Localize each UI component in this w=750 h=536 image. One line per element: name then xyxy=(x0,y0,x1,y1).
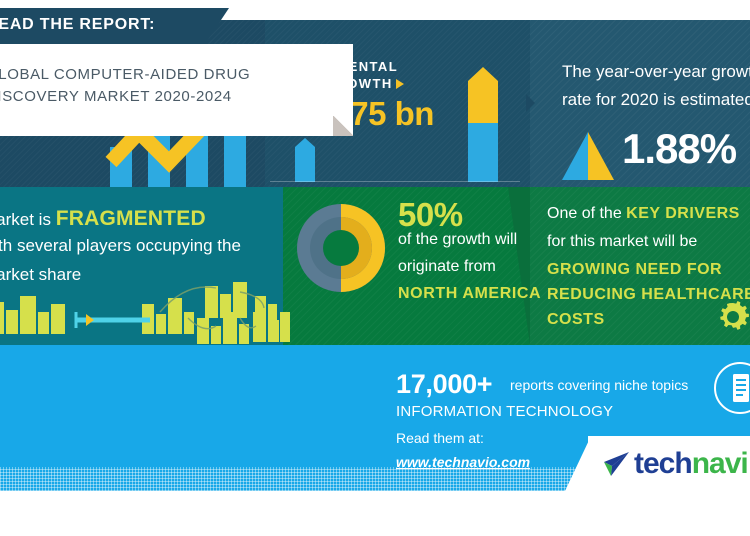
drivers-line-1: One of the KEY DRIVERS xyxy=(547,205,740,223)
yoy-line-2: rate for 2020 is estimated xyxy=(562,90,750,110)
gear-icon xyxy=(716,300,750,334)
report-count-subtitle: reports covering niche topics xyxy=(510,377,688,393)
read-report-banner-slant xyxy=(205,8,229,44)
drivers-line-2: for this market will be xyxy=(547,233,697,251)
bottom-margin xyxy=(0,491,750,536)
read-at-label: Read them at: xyxy=(396,430,484,446)
technavio-wordmark: technavi xyxy=(634,448,748,480)
fragmented-line-2: with several players occupying the xyxy=(0,236,241,256)
panel-notch xyxy=(526,94,535,112)
arrow-bar-2024-icon xyxy=(468,67,498,182)
report-title-line-1: GLOBAL COMPUTER-AIDED DRUG xyxy=(0,66,250,83)
city-buildings-icon xyxy=(0,282,290,344)
read-report-label: READ THE REPORT: xyxy=(0,16,155,34)
region-percent-value: 50% xyxy=(398,196,463,234)
play-triangle-icon xyxy=(396,79,404,89)
paper-plane-icon xyxy=(600,451,630,477)
document-circle-icon xyxy=(713,361,750,415)
region-line-1: of the growth will xyxy=(398,231,517,249)
donut-chart-icon xyxy=(295,202,387,294)
drivers-line-3: GROWING NEED FOR xyxy=(547,261,722,279)
drivers-accent-word: KEY DRIVERS xyxy=(626,205,740,222)
report-title-line-2: DISCOVERY MARKET 2020-2024 xyxy=(0,88,232,105)
region-name: NORTH AMERICA xyxy=(398,285,541,303)
drivers-line-5: COSTS xyxy=(547,311,605,329)
technavio-logo[interactable]: technavi xyxy=(600,448,750,480)
logo-text-navi: navi xyxy=(692,447,748,480)
report-category: INFORMATION TECHNOLOGY xyxy=(396,403,613,420)
panel-wedge xyxy=(508,187,530,345)
fragmented-accent-word: FRAGMENTED xyxy=(56,207,206,230)
arrow-bar-2019-icon xyxy=(295,138,315,182)
report-count-value: 17,000+ xyxy=(396,369,492,400)
infographic-canvas: arket growth will ACCELERATE at a CAGR o… xyxy=(0,0,750,536)
yoy-value: 1.88% xyxy=(622,125,736,173)
report-card-fold xyxy=(333,116,353,136)
yoy-line-1: The year-over-year growth xyxy=(562,62,750,82)
logo-text-tech: tech xyxy=(634,447,692,480)
triangle-growth-icon xyxy=(562,132,614,180)
website-link[interactable]: www.technavio.com xyxy=(396,454,530,470)
fragmented-line-1: market is FRAGMENTED xyxy=(0,207,206,231)
year-axis-line xyxy=(270,181,520,182)
region-line-2: originate from xyxy=(398,258,496,276)
